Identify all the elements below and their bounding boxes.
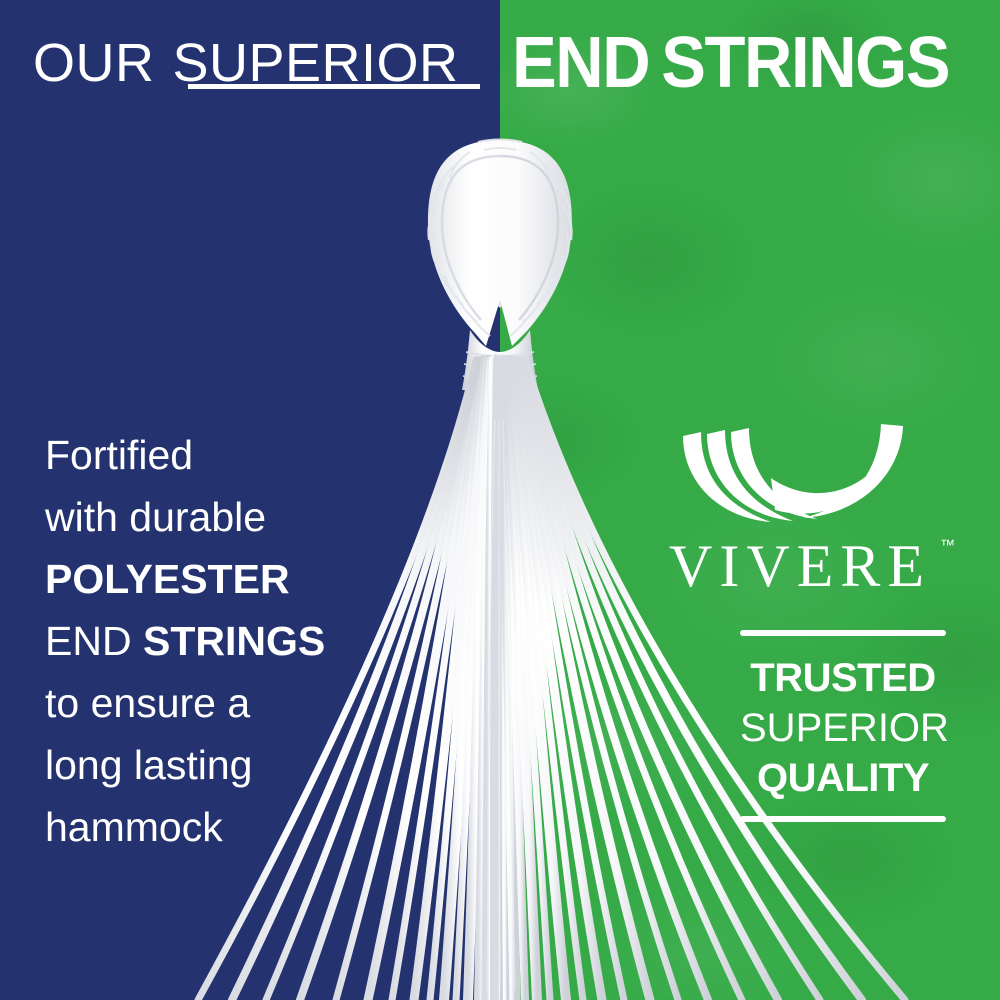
quality-line-trusted: TRUSTED <box>740 653 946 703</box>
headline-superior-underline <box>188 84 480 89</box>
body-copy-line: POLYESTER <box>45 548 375 610</box>
vivere-wordmark: VIVERE ™ <box>669 536 931 596</box>
quality-rule-bottom <box>740 816 946 822</box>
quality-line-superior: SUPERIOR <box>740 703 946 753</box>
vivere-logo: VIVERE ™ <box>640 418 960 596</box>
body-copy-line: to ensure a <box>45 672 375 734</box>
trademark-symbol: ™ <box>940 538 955 553</box>
headline-left: OURSUPERIOR <box>33 36 459 90</box>
quality-block: TRUSTED SUPERIOR QUALITY <box>740 630 946 822</box>
headline-right: ENDSTRINGS <box>512 27 949 99</box>
quality-line-quality: QUALITY <box>740 753 946 803</box>
body-copy-line: Fortified <box>45 424 375 486</box>
vivere-wordmark-text: VIVERE <box>669 533 931 599</box>
body-copy-line: hammock <box>45 796 375 858</box>
body-copy: Fortified with durable POLYESTER END STR… <box>45 424 375 858</box>
body-copy-line: END STRINGS <box>45 610 375 672</box>
body-copy-line: long lasting <box>45 734 375 796</box>
infographic-canvas: OURSUPERIOR ENDSTRINGS <box>0 0 1000 1000</box>
hammock-swoosh-icon <box>675 418 925 530</box>
headline-word-end: END <box>512 23 649 103</box>
quality-lines: TRUSTED SUPERIOR QUALITY <box>740 636 946 816</box>
headline-word-strings: STRINGS <box>661 23 949 103</box>
headline: OURSUPERIOR ENDSTRINGS <box>0 0 1000 108</box>
headline-word-our: OUR <box>33 33 155 93</box>
body-copy-line: with durable <box>45 486 375 548</box>
